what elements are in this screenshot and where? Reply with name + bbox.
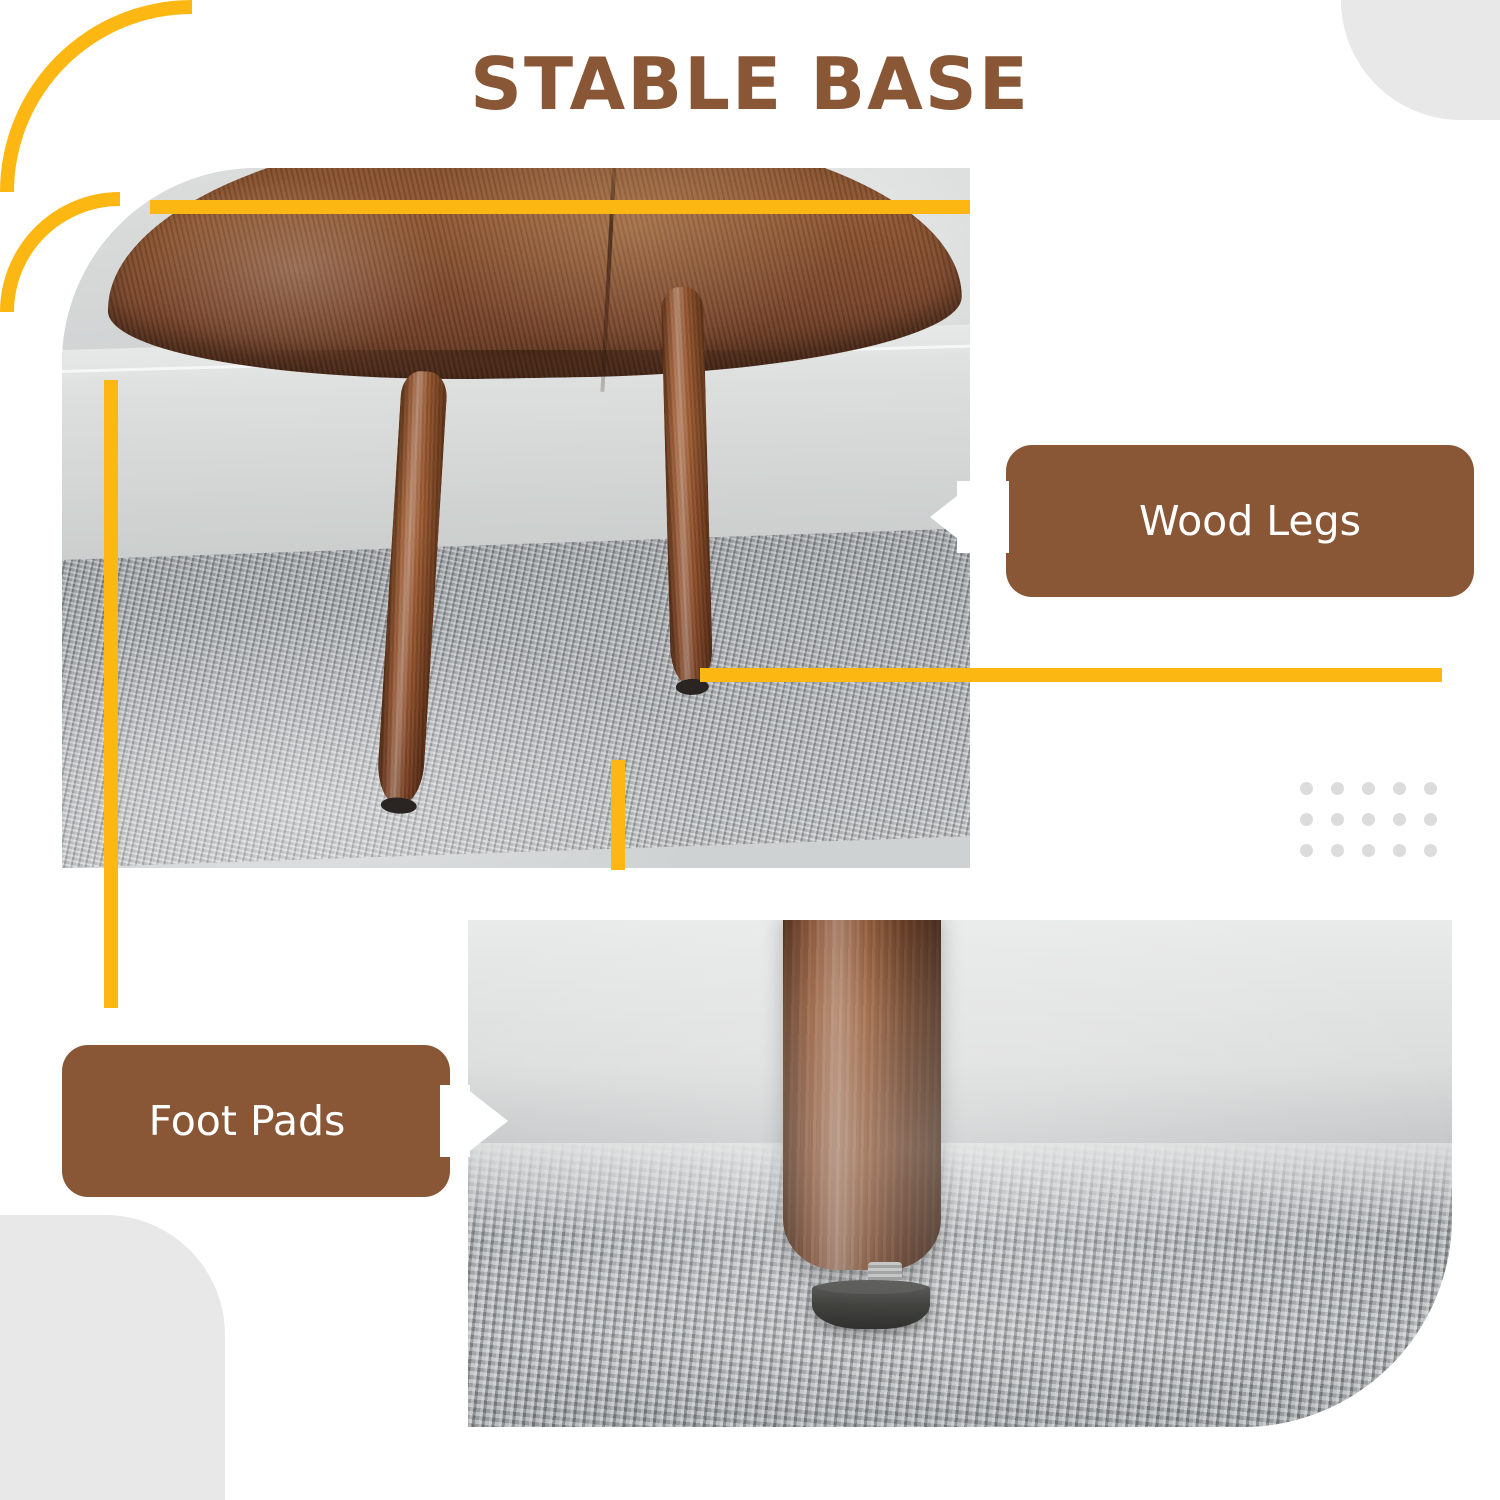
infographic-canvas: STABLE BASE Wood Legs	[0, 0, 1500, 1500]
dot	[1300, 782, 1313, 795]
dot	[1300, 813, 1313, 826]
dot	[1331, 813, 1344, 826]
dot	[1393, 782, 1406, 795]
dot	[1362, 782, 1375, 795]
accent-line-middle-horizontal	[700, 668, 1442, 682]
callout-wood-legs[interactable]: Wood Legs	[1006, 445, 1474, 597]
page-title: STABLE BASE	[0, 42, 1500, 126]
dot	[1393, 844, 1406, 857]
callout-foot-pads[interactable]: Foot Pads	[62, 1045, 450, 1197]
accent-line-top-horizontal	[150, 200, 970, 214]
dot	[1331, 844, 1344, 857]
wood-legs-notch-chevron-icon	[930, 481, 976, 553]
dot	[1300, 844, 1313, 857]
dot	[1424, 813, 1437, 826]
decor-dot-grid	[1300, 782, 1455, 875]
accent-line-middle-vertical	[611, 760, 625, 870]
callout-foot-pads-label: Foot Pads	[149, 1097, 346, 1145]
photo-vignette	[468, 920, 1452, 1427]
decor-corner-bottom-left	[0, 1215, 225, 1500]
dot	[1331, 782, 1344, 795]
top-photo	[62, 168, 970, 868]
accent-line-left-vertical	[104, 380, 118, 1008]
carpet-highlight	[62, 546, 970, 868]
dot	[1424, 782, 1437, 795]
dot	[1393, 813, 1406, 826]
dot	[1424, 844, 1437, 857]
dot	[1362, 813, 1375, 826]
dot	[1362, 844, 1375, 857]
bottom-photo	[468, 920, 1452, 1427]
foot-pads-notch-chevron-icon	[462, 1085, 508, 1157]
callout-wood-legs-label: Wood Legs	[1139, 497, 1361, 545]
seat-shadow	[135, 350, 916, 385]
